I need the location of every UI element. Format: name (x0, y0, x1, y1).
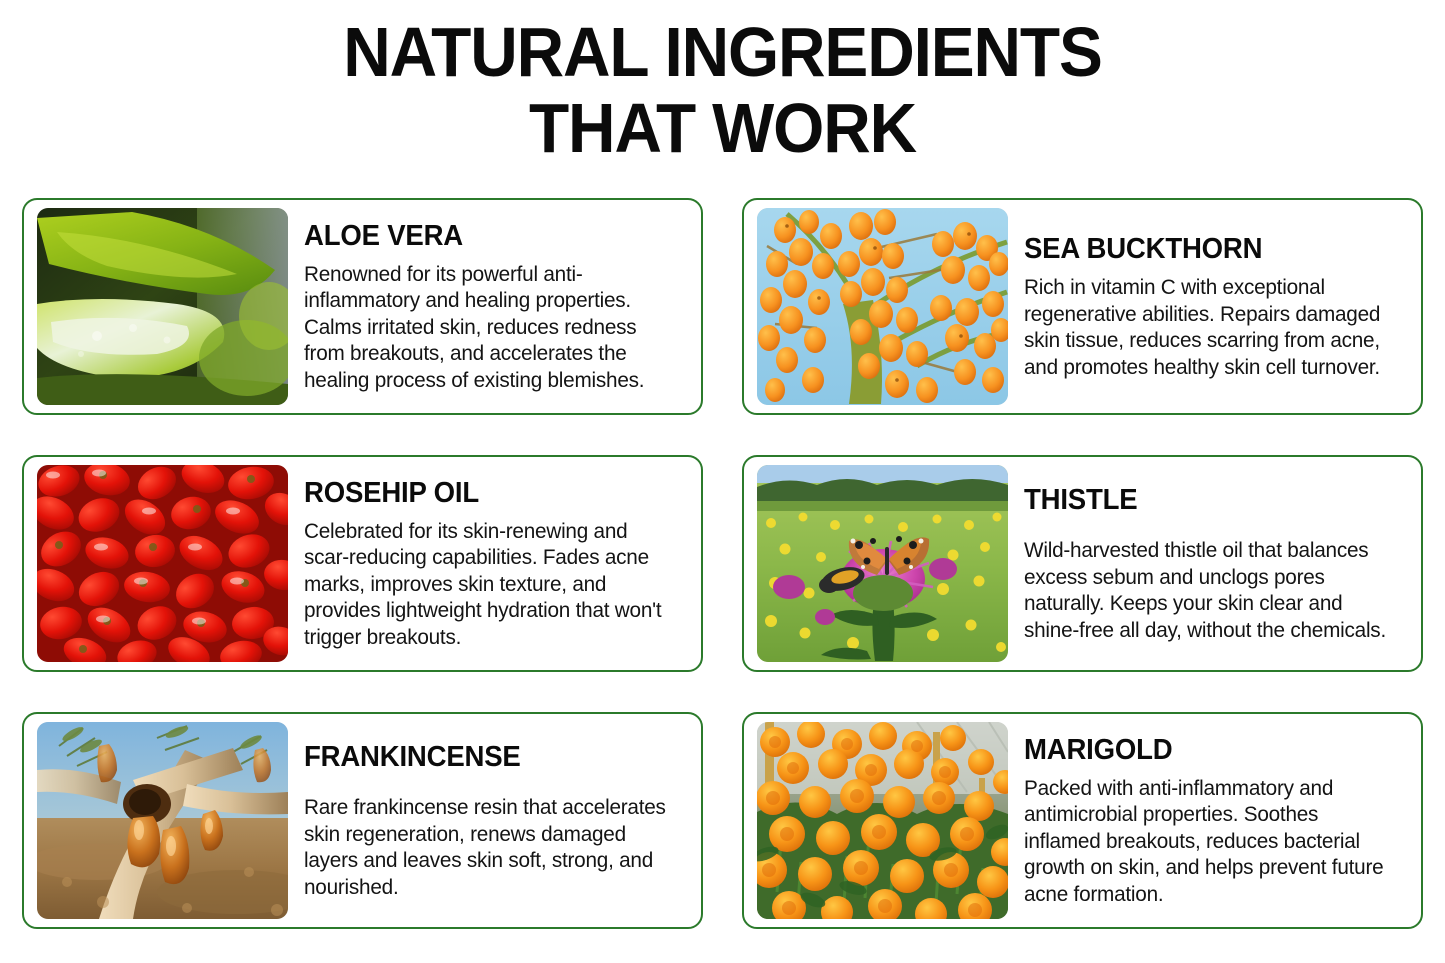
card-title: FRANKINCENSE (304, 741, 664, 774)
ingredient-card-rosehip-oil[interactable]: ROSEHIP OIL Celebrated for its skin-rene… (22, 455, 703, 672)
card-description: Packed with anti-inflammatory and antimi… (1024, 775, 1390, 908)
card-title: MARIGOLD (1024, 734, 1384, 767)
card-body: MARIGOLD Packed with anti-inflammatory a… (1008, 734, 1407, 908)
card-description: Wild-harvested thistle oil that balances… (1024, 537, 1390, 643)
ingredient-card-grid: ALOE VERA Renowned for its powerful anti… (22, 198, 1423, 929)
card-body: SEA BUCKTHORN Rich in vitamin C with exc… (1008, 233, 1407, 380)
page-title: NATURAL INGREDIENTS THAT WORK (43, 14, 1401, 166)
card-title: SEA BUCKTHORN (1024, 233, 1384, 266)
rosehip-berries-photo (37, 465, 288, 662)
card-description: Rare frankincense resin that accelerates… (304, 794, 670, 900)
card-description: Celebrated for its skin-renewing and sca… (304, 518, 670, 651)
card-description: Renowned for its powerful anti-inflammat… (304, 261, 670, 394)
infographic-page: NATURAL INGREDIENTS THAT WORK (0, 0, 1445, 963)
card-body: ROSEHIP OIL Celebrated for its skin-rene… (288, 477, 687, 651)
card-body: FRANKINCENSE Rare frankincense resin tha… (288, 741, 687, 900)
sea-buckthorn-photo (757, 208, 1008, 405)
ingredient-card-sea-buckthorn[interactable]: SEA BUCKTHORN Rich in vitamin C with exc… (742, 198, 1423, 415)
card-title: ALOE VERA (304, 220, 664, 253)
ingredient-card-marigold[interactable]: MARIGOLD Packed with anti-inflammatory a… (742, 712, 1423, 929)
marigold-field-photo (757, 722, 1008, 919)
card-body: THISTLE Wild-harvested thistle oil that … (1008, 484, 1407, 643)
ingredient-card-thistle[interactable]: THISTLE Wild-harvested thistle oil that … (742, 455, 1423, 672)
card-body: ALOE VERA Renowned for its powerful anti… (288, 220, 687, 394)
thistle-flower-photo (757, 465, 1008, 662)
ingredient-card-frankincense[interactable]: FRANKINCENSE Rare frankincense resin tha… (22, 712, 703, 929)
ingredient-card-aloe-vera[interactable]: ALOE VERA Renowned for its powerful anti… (22, 198, 703, 415)
aloe-vera-photo (37, 208, 288, 405)
card-title: THISTLE (1024, 484, 1384, 517)
frankincense-resin-photo (37, 722, 288, 919)
card-description: Rich in vitamin C with exceptional regen… (1024, 274, 1390, 380)
card-title: ROSEHIP OIL (304, 477, 664, 510)
